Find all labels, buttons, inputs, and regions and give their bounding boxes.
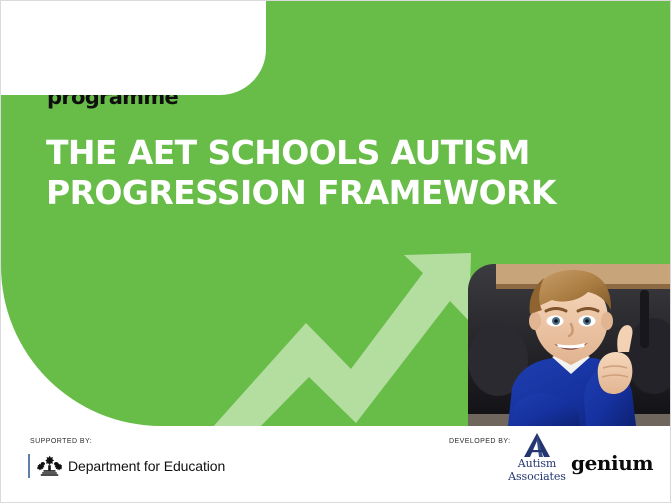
title-line-1: THE AET SCHOOLS AUTISM: [46, 133, 606, 173]
autism-associates-line-2: Associates: [506, 471, 568, 484]
royal-crest-icon: [37, 455, 62, 477]
supported-by-label: SUPPORTED BY:: [30, 438, 92, 445]
autism-associates-logo: Autism Associates: [506, 433, 568, 483]
department-for-education-logo: Department for Education: [28, 453, 225, 479]
developed-by-label: DEVELOPED BY:: [449, 438, 510, 445]
genium-logo: genium: [571, 451, 653, 475]
brochure-cover-page: autism education trust schools programme: [0, 0, 671, 503]
autism-associates-a-mark: [506, 433, 568, 458]
cover-green-panel: autism education trust schools programme: [1, 1, 670, 426]
autism-associates-line-1: Autism: [506, 458, 568, 471]
page-title: THE AET SCHOOLS AUTISM PROGRESSION FRAME…: [46, 133, 606, 213]
dfe-divider-rule: [28, 454, 30, 478]
dfe-label: Department for Education: [68, 458, 225, 474]
school-pupil-thumbs-up-photo: [468, 264, 670, 426]
upward-trending-arrow-graphic: [151, 251, 491, 426]
header-white-band: [1, 1, 266, 95]
title-line-2: PROGRESSION FRAMEWORK: [46, 173, 606, 213]
